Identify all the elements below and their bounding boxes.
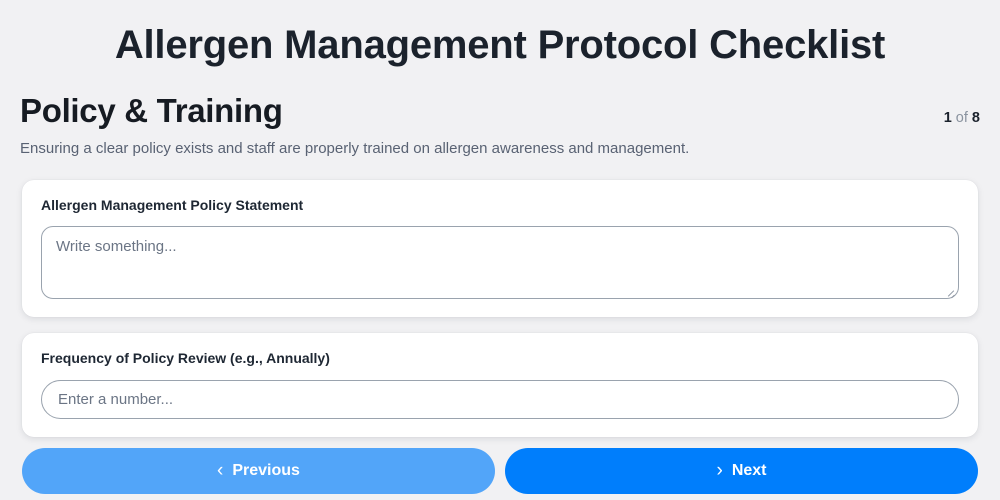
field-label-policy-statement: Allergen Management Policy Statement bbox=[41, 196, 959, 214]
policy-statement-textarea[interactable] bbox=[41, 226, 959, 299]
step-separator: of bbox=[956, 110, 968, 126]
previous-button[interactable]: ‹ Previous bbox=[22, 448, 495, 494]
fields-list: Allergen Management Policy Statement Fre… bbox=[0, 160, 1000, 436]
step-indicator: 1 of 8 bbox=[944, 110, 980, 129]
step-current: 1 bbox=[944, 110, 952, 126]
next-button[interactable]: › Next bbox=[505, 448, 978, 494]
page-title: Allergen Management Protocol Checklist bbox=[0, 0, 1000, 69]
navigation-bar: ‹ Previous › Next bbox=[0, 448, 1000, 494]
section-subtitle: Ensuring a clear policy exists and staff… bbox=[0, 131, 1000, 160]
previous-button-label: Previous bbox=[232, 463, 300, 479]
field-label-review-frequency: Frequency of Policy Review (e.g., Annual… bbox=[41, 349, 959, 367]
section-header: Policy & Training 1 of 8 bbox=[0, 69, 1000, 131]
field-card-policy-statement: Allergen Management Policy Statement bbox=[22, 180, 978, 317]
review-frequency-input[interactable] bbox=[41, 380, 959, 419]
section-title: Policy & Training bbox=[20, 91, 283, 131]
chevron-right-icon: › bbox=[716, 461, 722, 480]
textarea-wrapper bbox=[41, 226, 959, 299]
checklist-page: Allergen Management Protocol Checklist P… bbox=[0, 0, 1000, 500]
next-button-label: Next bbox=[732, 463, 767, 479]
chevron-left-icon: ‹ bbox=[217, 461, 223, 480]
field-card-review-frequency: Frequency of Policy Review (e.g., Annual… bbox=[22, 333, 978, 436]
step-total: 8 bbox=[972, 110, 980, 126]
